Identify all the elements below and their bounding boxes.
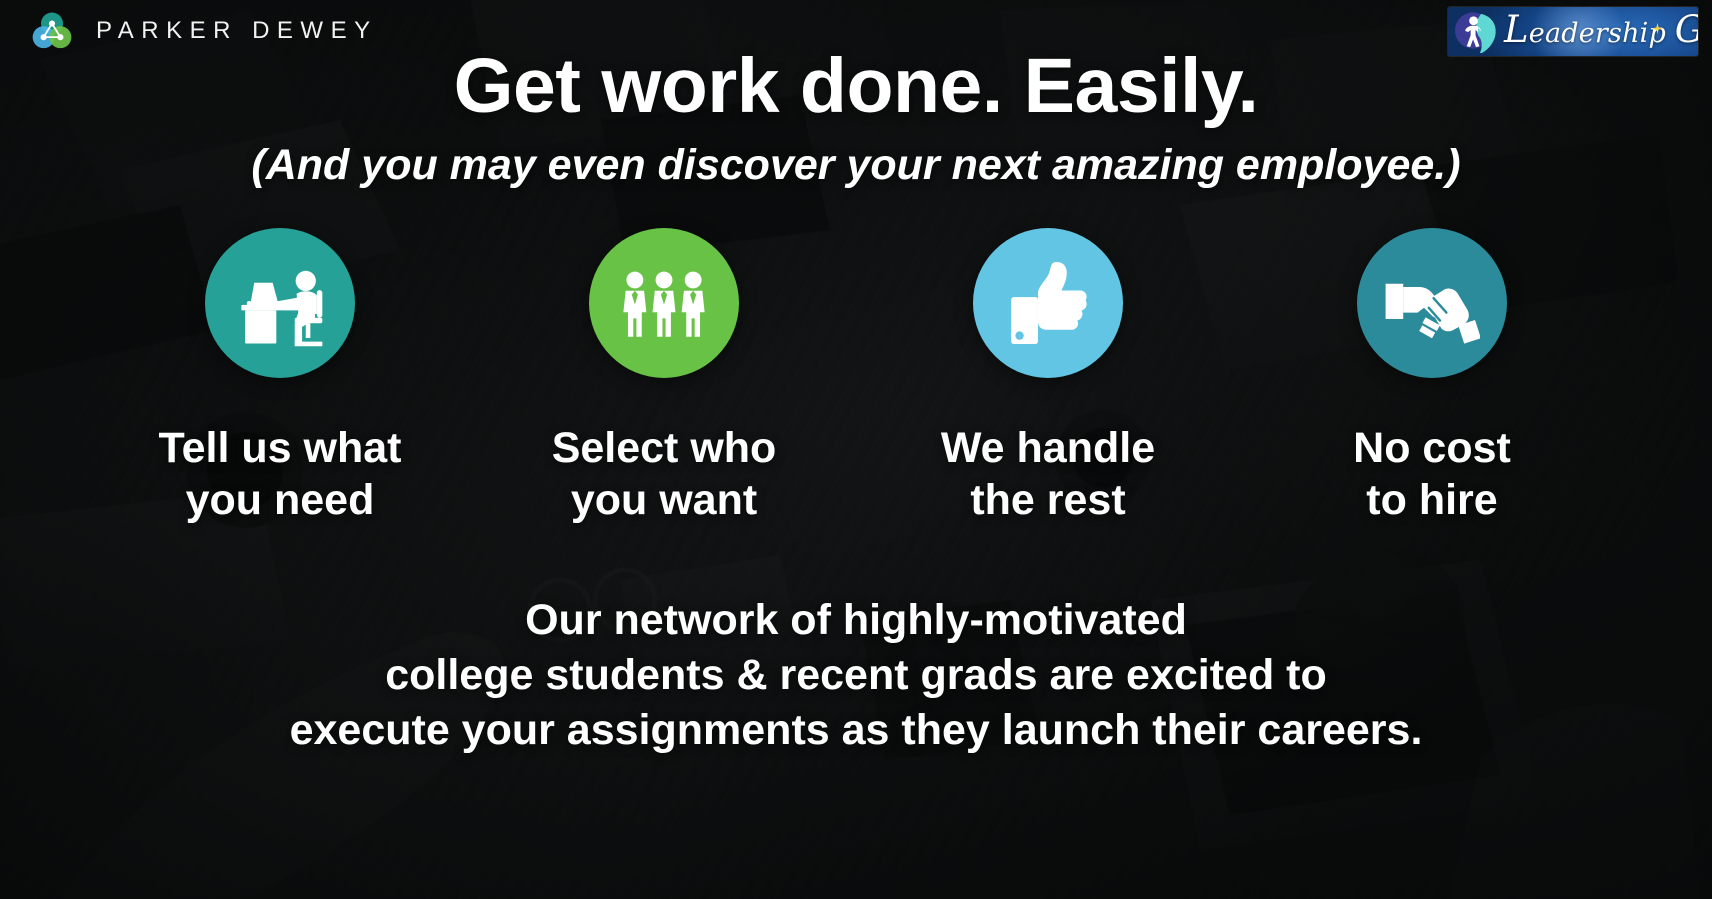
step-select-who-you-want: Select who you want <box>504 228 824 527</box>
step-3-label: We handle the rest <box>941 422 1155 527</box>
step-3-icon-circle <box>973 228 1123 378</box>
closing-paragraph: Our network of highly-motivated college … <box>0 593 1712 758</box>
steps-row: Tell us what you need <box>120 228 1592 527</box>
hero-text-block: Get work done. Easily. (And you may even… <box>0 48 1712 188</box>
woman-profile-figure-logo-icon <box>1452 8 1502 55</box>
step-tell-us-what-you-need: Tell us what you need <box>120 228 440 527</box>
group-of-people-icon <box>618 260 710 346</box>
three-circles-triangle-logo-icon <box>30 9 74 53</box>
step-no-cost-to-hire: No cost to hire <box>1272 228 1592 527</box>
step-2-label: Select who you want <box>552 422 777 527</box>
brand-name: PARKER DEWEY <box>96 17 378 45</box>
step-1-label: Tell us what you need <box>159 422 402 527</box>
handshake-icon <box>1384 262 1480 344</box>
step-we-handle-the-rest: We handle the rest <box>888 228 1208 527</box>
person-at-desk-with-laptop-icon <box>234 257 326 349</box>
page-subtitle: (And you may even discover your next ama… <box>0 143 1712 188</box>
slide-header: PARKER DEWEY Leadership Girl <box>0 0 1712 62</box>
step-1-icon-circle <box>205 228 355 378</box>
partner-name-leadership: eadership <box>1529 18 1675 49</box>
presentation-slide: PARKER DEWEY Leadership Girl <box>0 0 1712 899</box>
step-4-label: No cost to hire <box>1353 422 1511 527</box>
step-4-icon-circle <box>1357 228 1507 378</box>
partner-name: Leadership Girl <box>1502 15 1698 47</box>
leadership-girl-badge[interactable]: Leadership Girl <box>1448 7 1698 56</box>
step-2-icon-circle <box>589 228 739 378</box>
thumbs-up-icon <box>1005 257 1091 349</box>
parker-dewey-brand: PARKER DEWEY <box>30 9 378 53</box>
partner-name-initial-g: G <box>1675 8 1698 51</box>
partner-name-initial-l: L <box>1504 8 1529 51</box>
